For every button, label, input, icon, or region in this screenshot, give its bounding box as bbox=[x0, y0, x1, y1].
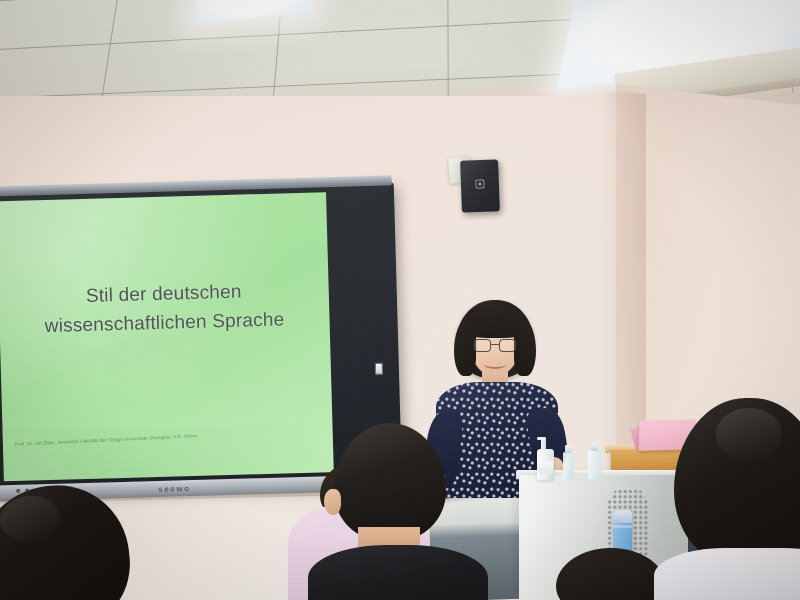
water-bottle-1 bbox=[563, 452, 574, 480]
power-button-icon[interactable] bbox=[375, 363, 383, 375]
wall-speaker-icon bbox=[460, 159, 500, 212]
glasses-icon bbox=[474, 339, 516, 352]
projected-slide: Stil der deutschen wissenschaftlichen Sp… bbox=[0, 192, 334, 481]
student-shirt bbox=[308, 545, 488, 600]
presenter-smile bbox=[484, 360, 506, 369]
seewo-brand-label: seewo bbox=[158, 484, 191, 494]
glasses-lens-right bbox=[499, 339, 516, 352]
wall-corner-shadow bbox=[600, 90, 646, 474]
slide-title-line-1: Stil der deutschen bbox=[86, 282, 242, 307]
hand-sanitizer-bottle bbox=[537, 449, 554, 480]
thermos-band bbox=[613, 525, 632, 528]
indicator-dot-icon bbox=[16, 489, 20, 493]
slide-footer-attribution: Prof. Dr. Jin Zhao, Deutsche Fakultät de… bbox=[15, 428, 315, 447]
thermos-lid bbox=[613, 510, 632, 523]
sanitizer-label bbox=[539, 461, 553, 474]
bottle-cap-icon bbox=[591, 443, 598, 451]
slide-title-line-2: wissenschaftlichen Sprache bbox=[0, 305, 330, 343]
presenter-hair-right bbox=[514, 320, 536, 376]
water-bottle-2 bbox=[588, 450, 601, 479]
student-head bbox=[334, 423, 446, 541]
student-ear bbox=[324, 489, 341, 515]
student-right-foreground bbox=[660, 398, 800, 600]
student-hair bbox=[674, 398, 800, 563]
student-front-center bbox=[318, 423, 468, 600]
glasses-bridge bbox=[491, 344, 499, 345]
student-shirt bbox=[654, 548, 800, 600]
lecture-hall-photo: Stil der deutschen wissenschaftlichen Sp… bbox=[0, 0, 800, 600]
slide-title: Stil der deutschen wissenschaftlichen Sp… bbox=[0, 276, 330, 342]
bottle-cap-icon bbox=[565, 445, 572, 453]
glasses-lens-left bbox=[474, 339, 491, 352]
presenter-hair-left bbox=[454, 320, 476, 376]
sanitizer-pump bbox=[541, 438, 546, 450]
speaker-logo-icon bbox=[475, 179, 484, 188]
